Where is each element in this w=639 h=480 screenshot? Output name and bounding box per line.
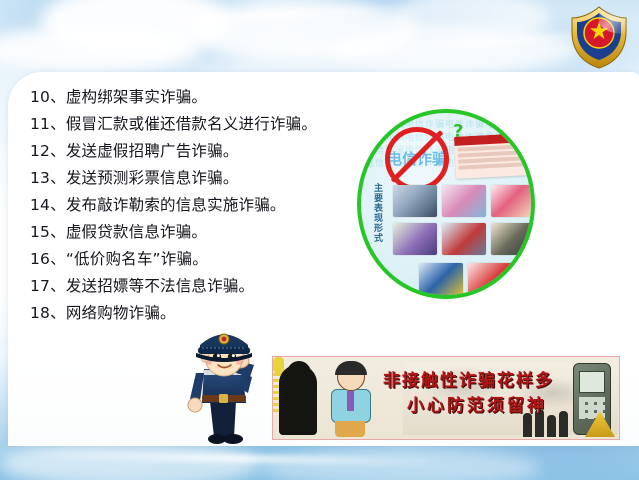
list-item: 11、 假冒汇款或催还借款名义进行诈骗。 — [30, 111, 360, 138]
list-item-text: 假冒汇款或催还借款名义进行诈骗。 — [66, 111, 317, 138]
list-item-number: 16、 — [30, 246, 66, 273]
panel-shopping-icon — [491, 185, 535, 217]
comic-panel-row — [393, 223, 535, 255]
list-item: 12、 发送虚假招聘广告诈骗。 — [30, 138, 360, 165]
masked-caller-head — [287, 361, 311, 385]
panel-lottery-win-icon — [393, 185, 437, 217]
list-item: 10、 虚构绑架事实诈骗。 — [30, 84, 360, 111]
list-item-text: “低价购名车”诈骗。 — [66, 246, 208, 273]
circle-vertical-label: 主要表现形式 — [369, 183, 383, 243]
cloud-decoration — [190, 0, 420, 62]
panel-phishing-link-icon — [442, 223, 486, 255]
list-item-number: 10、 — [30, 84, 66, 111]
police-badge-icon — [566, 2, 632, 72]
list-item-number: 11、 — [30, 111, 66, 138]
light-streak — [120, 4, 420, 26]
info-card-line — [458, 162, 524, 169]
list-item-text: 虚假贷款信息诈骗。 — [66, 219, 207, 246]
list-item: 17、 发送招嫖等不法信息诈骗。 — [30, 273, 360, 300]
list-item-text: 虚构绑架事实诈骗。 — [66, 84, 207, 111]
list-item: 18、 网络购物诈骗。 — [30, 300, 360, 327]
list-item: 16、 “低价购名车”诈骗。 — [30, 246, 360, 273]
list-item: 15、 虚假贷款信息诈骗。 — [30, 219, 360, 246]
warning-banner: 非接触性诈骗花样多 小心防范须留神 — [272, 356, 620, 440]
cloud-decoration — [260, 448, 540, 480]
list-item-number: 14、 — [30, 192, 66, 219]
prohibition-sign-icon: 电信诈骗 — [385, 127, 449, 191]
list-item-text: 发送招嫖等不法信息诈骗。 — [66, 273, 254, 300]
cloud-decoration — [0, 440, 260, 480]
list-item: 14、 发布敲诈勒索的信息实施诈骗。 — [30, 192, 360, 219]
list-item-number: 18、 — [30, 300, 66, 327]
anti-fraud-circle-graphic: 电信诈骗电信诈骗电信诈骗电信诈骗电信诈骗电信诈骗电信诈骗电信诈骗电信诈骗电信诈骗… — [357, 109, 535, 299]
panel-atm-machine-icon — [419, 263, 463, 295]
panel-office-scam-icon — [491, 223, 535, 255]
comic-panel-row — [393, 185, 535, 217]
banner-slogan-line1: 非接触性诈骗花样多 — [383, 371, 583, 392]
victim-legs — [335, 421, 365, 437]
list-item: 13、 发送预测彩票信息诈骗。 — [30, 165, 360, 192]
cartoon-policeman-icon — [178, 327, 270, 445]
comic-panel-row — [419, 263, 512, 295]
list-item-number: 12、 — [30, 138, 66, 165]
cloud-decoration — [330, 28, 580, 72]
banner-slogan-line2: 小心防范须留神 — [407, 396, 583, 417]
victim-hair — [335, 361, 367, 375]
victim-tie — [347, 391, 354, 411]
list-item-number: 13、 — [30, 165, 66, 192]
list-item-text: 网络购物诈骗。 — [66, 300, 176, 327]
list-item-text: 发送虚假招聘广告诈骗。 — [66, 138, 239, 165]
list-item-text: 发送预测彩票信息诈骗。 — [66, 165, 239, 192]
info-card — [454, 133, 528, 179]
list-item-text: 发布敲诈勒索的信息实施诈骗。 — [66, 192, 286, 219]
fraud-type-list: 10、 虚构绑架事实诈骗。 11、 假冒汇款或催还借款名义进行诈骗。 12、 发… — [30, 84, 360, 327]
cloud-decoration — [0, 26, 200, 74]
victim-character — [325, 361, 379, 437]
cloud-decoration — [40, 0, 230, 56]
cloud-decoration — [390, 0, 550, 46]
panel-bank-card-icon — [468, 263, 512, 295]
list-item-number: 17、 — [30, 273, 66, 300]
slide-canvas: 10、 虚构绑架事实诈骗。 11、 假冒汇款或催还借款名义进行诈骗。 12、 发… — [0, 0, 639, 480]
crowd-silhouette — [547, 415, 556, 437]
light-streak — [30, 451, 450, 465]
banner-slogan: 非接触性诈骗花样多 小心防范须留神 — [383, 371, 583, 417]
list-item-number: 15、 — [30, 219, 66, 246]
panel-phone-call-icon — [442, 185, 486, 217]
panel-atm-transfer-icon — [393, 223, 437, 255]
